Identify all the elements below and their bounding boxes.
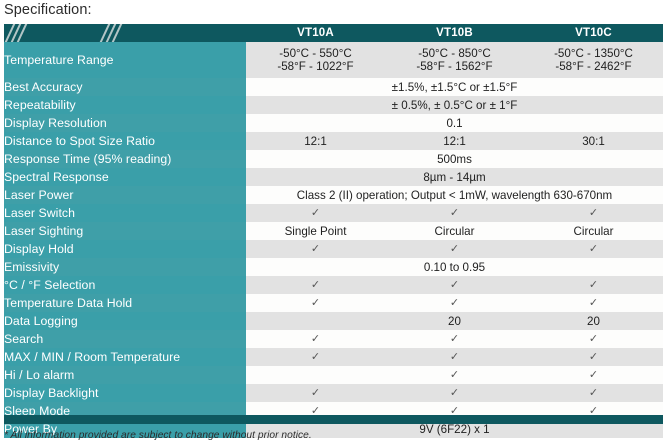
header-corner-decoration (4, 24, 246, 42)
row-label: Spectral Response (4, 168, 246, 186)
row-value-a: Single Point (246, 222, 385, 240)
row-label: Laser Sighting (4, 222, 246, 240)
table-row: Laser SightingSingle PointCircularCircul… (4, 222, 663, 240)
row-value-b: 12:1 (385, 132, 524, 150)
checkmark-icon-c: ✓ (524, 348, 663, 366)
row-label: °C / °F Selection (4, 276, 246, 294)
table-row: Search✓✓✓ (4, 330, 663, 348)
table-row: Display Hold✓✓✓ (4, 240, 663, 258)
table-row: Distance to Spot Size Ratio12:112:130:1 (4, 132, 663, 150)
row-label: Laser Switch (4, 204, 246, 222)
value-line-1: -50°C - 1350°C (524, 47, 663, 60)
diagonal-slashes-icon (7, 24, 33, 42)
checkmark-icon-c: ✓ (524, 384, 663, 402)
table-row: Laser PowerClass 2 (II) operation; Outpu… (4, 186, 663, 204)
table-row: MAX / MIN / Room Temperature✓✓✓ (4, 348, 663, 366)
table-row: °C / °F Selection✓✓✓ (4, 276, 663, 294)
table-row: Response Time (95% reading)500ms (4, 150, 663, 168)
row-label: Display Resolution (4, 114, 246, 132)
table-bottom-bar (4, 415, 663, 424)
page-title: Specification: (4, 2, 92, 18)
table-row: Best Accuracy±1.5%, ±1.5°C or ±1.5°F (4, 78, 663, 96)
value-line-2: -58°F - 2462°F (524, 60, 663, 73)
row-value-c: -50°C - 1350°C-58°F - 2462°F (524, 42, 663, 78)
specification-page: Specification: (0, 0, 667, 447)
table-row: Laser Switch✓✓✓ (4, 204, 663, 222)
table-row: Hi / Lo alarm✓✓ (4, 366, 663, 384)
table-header: VT10A VT10B VT10C (4, 24, 663, 42)
table-row: Display Resolution0.1 (4, 114, 663, 132)
row-value-c: Circular (524, 222, 663, 240)
row-label: Distance to Spot Size Ratio (4, 132, 246, 150)
value-line-1: -50°C - 550°C (246, 47, 385, 60)
row-value-b: Circular (385, 222, 524, 240)
row-label: Data Logging (4, 312, 246, 330)
row-label: Display Hold (4, 240, 246, 258)
row-label: Emissivity (4, 258, 246, 276)
checkmark-icon-a: ✓ (246, 240, 385, 258)
checkmark-icon-c: ✓ (524, 240, 663, 258)
table-row: Data Logging2020 (4, 312, 663, 330)
checkmark-icon-a: ✓ (246, 348, 385, 366)
row-label: Display Backlight (4, 384, 246, 402)
checkmark-icon-c: ✓ (524, 276, 663, 294)
checkmark-icon-a: ✓ (246, 384, 385, 402)
checkmark-icon-b: ✓ (385, 366, 524, 384)
table-row: Temperature Data Hold✓✓✓ (4, 294, 663, 312)
checkmark-icon-a: ✓ (246, 294, 385, 312)
row-value-span: 500ms (246, 150, 663, 168)
checkmark-icon-b: ✓ (385, 204, 524, 222)
checkmark-icon-c: ✓ (524, 294, 663, 312)
table-row: Spectral Response8µm - 14µm (4, 168, 663, 186)
table-row: Temperature Range-50°C - 550°C-58°F - 10… (4, 42, 663, 78)
footnote: * All information provided are subject t… (4, 430, 312, 441)
checkmark-icon-c: ✓ (524, 330, 663, 348)
checkmark-icon-c: ✓ (524, 366, 663, 384)
row-label: Search (4, 330, 246, 348)
table-row: Repeatability± 0.5%, ± 0.5°C or ± 1°F (4, 96, 663, 114)
checkmark-icon-b: ✓ (385, 348, 524, 366)
row-label: Hi / Lo alarm (4, 366, 246, 384)
column-header-vt10b: VT10B (385, 24, 524, 42)
checkmark-icon-b: ✓ (385, 240, 524, 258)
row-value-a (246, 312, 385, 330)
table-body: Temperature Range-50°C - 550°C-58°F - 10… (4, 42, 663, 438)
checkmark-icon-b: ✓ (385, 384, 524, 402)
row-value-a (246, 366, 385, 384)
checkmark-icon-b: ✓ (385, 276, 524, 294)
row-value-span: 0.1 (246, 114, 663, 132)
value-line-1: -50°C - 850°C (385, 47, 524, 60)
row-value-span: 0.10 to 0.95 (246, 258, 663, 276)
column-header-vt10c: VT10C (524, 24, 663, 42)
column-header-vt10a: VT10A (246, 24, 385, 42)
row-label: Laser Power (4, 186, 246, 204)
row-value-b: -50°C - 850°C-58°F - 1562°F (385, 42, 524, 78)
row-value-span: ±1.5%, ±1.5°C or ±1.5°F (246, 78, 663, 96)
checkmark-icon-a: ✓ (246, 204, 385, 222)
row-value-span: ± 0.5%, ± 0.5°C or ± 1°F (246, 96, 663, 114)
row-label: Temperature Range (4, 42, 246, 78)
checkmark-icon-a: ✓ (246, 276, 385, 294)
row-label: MAX / MIN / Room Temperature (4, 348, 246, 366)
checkmark-icon-a: ✓ (246, 330, 385, 348)
row-value-a: -50°C - 550°C-58°F - 1022°F (246, 42, 385, 78)
row-value-a: 12:1 (246, 132, 385, 150)
row-label: Response Time (95% reading) (4, 150, 246, 168)
row-value-c: 20 (524, 312, 663, 330)
table-row: Display Backlight✓✓✓ (4, 384, 663, 402)
row-value-b: 20 (385, 312, 524, 330)
row-value-span: 8µm - 14µm (246, 168, 663, 186)
checkmark-icon-b: ✓ (385, 330, 524, 348)
table-row: Emissivity0.10 to 0.95 (4, 258, 663, 276)
value-line-2: -58°F - 1022°F (246, 60, 385, 73)
row-label: Temperature Data Hold (4, 294, 246, 312)
value-line-2: -58°F - 1562°F (385, 60, 524, 73)
row-value-span: Class 2 (II) operation; Output < 1mW, wa… (246, 186, 663, 204)
diagonal-slashes-secondary-icon (102, 24, 128, 42)
table-header-row: VT10A VT10B VT10C (4, 24, 663, 42)
checkmark-icon-b: ✓ (385, 294, 524, 312)
checkmark-icon-c: ✓ (524, 204, 663, 222)
row-label: Best Accuracy (4, 78, 246, 96)
row-value-c: 30:1 (524, 132, 663, 150)
specification-table: VT10A VT10B VT10C Temperature Range-50°C… (4, 24, 663, 438)
row-label: Repeatability (4, 96, 246, 114)
